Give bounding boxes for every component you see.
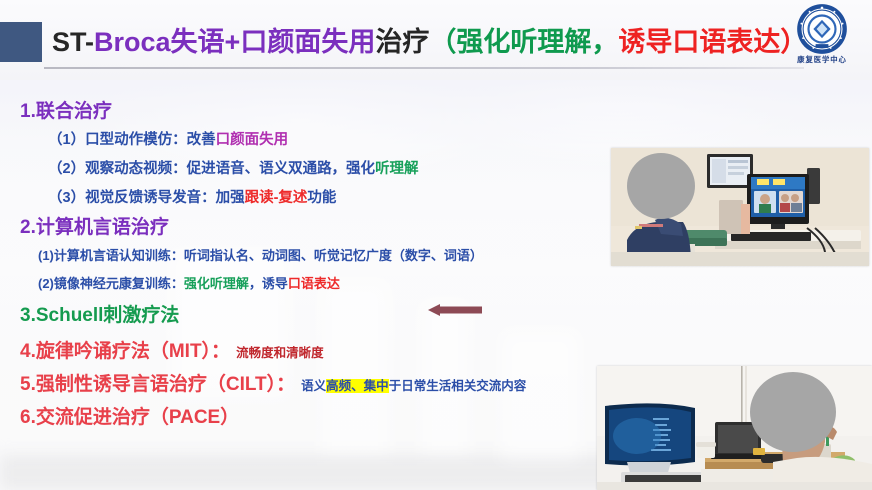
item-segment-emphasis: 跟读-复述: [245, 190, 308, 206]
title-segment-2: Broca失语+口颜面失用: [94, 27, 375, 57]
photo-rehabilitation-workstation: [597, 366, 872, 490]
section-5-note-part-1: 语义: [301, 379, 326, 393]
section-4-title: 4.旋律吟诵疗法（MIT）：: [20, 341, 230, 362]
photo-speech-therapy-session: [611, 148, 869, 266]
section-2-item-1: (1)计算机言语认知训练：听词指认名、动词图、听觉记忆广度（数字、词语）: [38, 245, 483, 264]
item-segment: (1)计算机言语认知训练：听词指认名、动词图、听觉记忆广度（数字、词语）: [38, 248, 483, 263]
section-1-item-1: （1）口型动作模仿：改善口颜面失用: [48, 128, 288, 149]
section-heading-4: 4.旋律吟诵疗法（MIT）：流畅度和清晰度: [20, 336, 324, 363]
emblem-icon: [795, 2, 849, 56]
section-heading-6: 6.交流促进治疗（PACE）: [20, 402, 239, 429]
item-segment: 功能: [307, 190, 336, 206]
title-segment-4: （强化听理解，: [429, 27, 618, 57]
title-band: ST-Broca失语+口颜面失用治疗（强化听理解，诱导口语表达）: [0, 0, 872, 80]
item-segment: （3）视觉反馈诱导发音：加强: [48, 190, 245, 206]
title-accent-block: [0, 22, 42, 62]
title-segment-3: 治疗: [375, 27, 429, 57]
item-segment-emphasis: 口颜面失用: [216, 132, 289, 148]
item-segment-emphasis: 强化听理解: [184, 276, 249, 291]
section-heading-2: 2.计算机言语治疗: [20, 212, 169, 239]
item-segment: ，诱导: [249, 276, 288, 291]
section-5-note-highlight: 高频、集中: [326, 379, 389, 393]
section-5-note-part-3: 于日常生活相关交流内容: [389, 379, 527, 393]
logo-caption: 康复医学中心: [797, 54, 847, 64]
item-segment: (2)镜像神经元康复训练：: [38, 276, 184, 291]
photo-top-illustration: [611, 148, 869, 266]
item-segment: （1）口型动作模仿：改善: [48, 132, 216, 148]
presentation-slide: ST-Broca失语+口颜面失用治疗（强化听理解，诱导口语表达）: [0, 0, 872, 490]
section-5-title: 5.强制性诱导言语治疗（CILT）：: [20, 374, 295, 395]
item-segment-emphasis: 口语表达: [288, 276, 340, 291]
title-segment-5: 诱导口语表达）: [618, 27, 807, 57]
title-underline-rule: [44, 67, 804, 69]
slide-body: 1.联合治疗 （1）口型动作模仿：改善口颜面失用 （2）观察动态视频：促进语音、…: [0, 80, 600, 490]
section-1-item-3: （3）视觉反馈诱导发音：加强跟读-复述功能: [48, 186, 336, 207]
photo-bottom-illustration: [597, 366, 872, 490]
section-1-item-2: （2）观察动态视频：促进语音、语义双通路，强化听理解: [48, 157, 419, 178]
page-title: ST-Broca失语+口颜面失用治疗（强化听理解，诱导口语表达）: [52, 20, 807, 64]
section-4-note: 流畅度和清晰度: [236, 346, 324, 360]
section-heading-1: 1.联合治疗: [20, 96, 112, 123]
title-segment-1: ST-: [52, 27, 94, 57]
section-heading-5: 5.强制性诱导言语治疗（CILT）：语义高频、集中于日常生活相关交流内容: [20, 369, 526, 396]
organization-logo: 康复医学中心: [786, 2, 858, 74]
section-2-item-2: (2)镜像神经元康复训练：强化听理解，诱导口语表达: [38, 273, 340, 292]
item-segment-emphasis: 听理解: [375, 161, 419, 177]
item-segment: （2）观察动态视频：促进语音、语义双通路，强化: [48, 161, 375, 177]
section-heading-3: 3.Schuell刺激疗法: [20, 300, 179, 327]
left-pointing-arrow-icon: [428, 303, 484, 317]
